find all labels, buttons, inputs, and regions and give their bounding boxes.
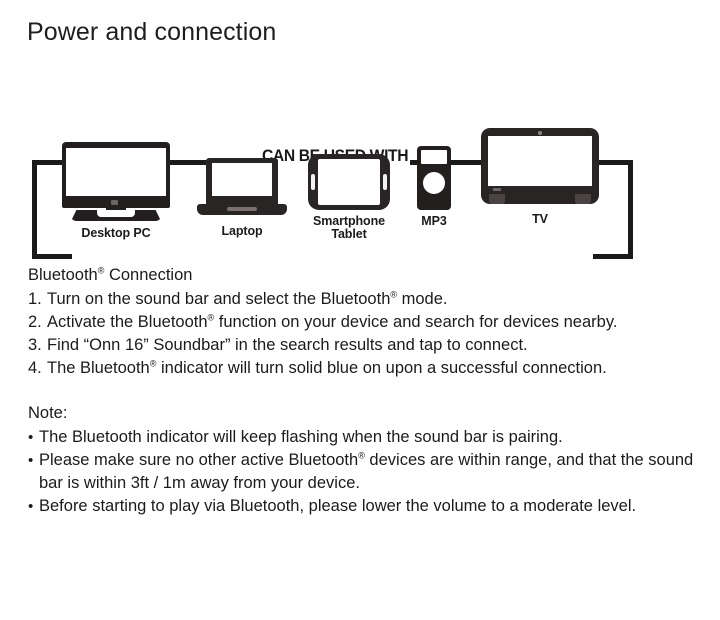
note-text-pre: Please make sure no other active Bluetoo… (39, 451, 358, 469)
note-bullet-2: • Please make sure no other active Bluet… (28, 449, 700, 495)
bluetooth-connection-heading: Bluetooth® Connection (28, 264, 700, 287)
device-desktop-pc: Desktop PC (56, 142, 176, 240)
note-heading: Note: (28, 402, 700, 425)
note-text-pre: The Bluetooth indicator will keep flashi… (39, 428, 563, 446)
bullet-glyph: • (28, 495, 39, 518)
bluetooth-heading-suffix: Connection (104, 266, 192, 284)
tablet-left-button (311, 174, 315, 190)
can-be-used-with-diagram: CAN BE USED WITH Desktop PC Laptop (0, 70, 720, 250)
mp3-click-wheel (423, 172, 445, 194)
note-text: The Bluetooth indicator will keep flashi… (39, 426, 700, 449)
manual-page: { "page": { "title": "Power and connecti… (0, 0, 720, 620)
step-text-post: function on your device and search for d… (214, 313, 617, 331)
note-bullet-3: • Before starting to play via Bluetooth,… (28, 495, 700, 518)
mp3-player-icon (417, 146, 451, 210)
step-number: 1. (28, 288, 47, 311)
device-label-tablet: Tablet (303, 228, 395, 241)
bluetooth-steps-list: 1. Turn on the sound bar and select the … (28, 288, 700, 380)
tv-icon (481, 128, 599, 208)
device-laptop: Laptop (196, 158, 288, 238)
laptop-icon (197, 158, 287, 220)
device-label-mp3: MP3 (408, 215, 460, 228)
tv-left-foot (489, 194, 505, 204)
laptop-trackpad (227, 207, 257, 211)
step-text-post: indicator will turn solid blue on upon a… (156, 359, 606, 377)
tablet-screen (318, 159, 380, 205)
step-text: Turn on the sound bar and select the Blu… (47, 288, 700, 311)
step-text-pre: Turn on the sound bar and select the Blu… (47, 290, 390, 308)
step-text: The Bluetooth® indicator will turn solid… (47, 357, 700, 380)
device-label-tv: TV (480, 213, 600, 226)
bluetooth-step-2: 2. Activate the Bluetooth® function on y… (28, 311, 700, 334)
note-bullet-1: • The Bluetooth indicator will keep flas… (28, 426, 700, 449)
step-text-pre: Find “Onn 16” Soundbar” in the search re… (47, 336, 528, 354)
note-text: Please make sure no other active Bluetoo… (39, 449, 700, 495)
step-text-post: mode. (397, 290, 447, 308)
bluetooth-step-1: 1. Turn on the sound bar and select the … (28, 288, 700, 311)
tablet-right-button (383, 174, 387, 190)
bluetooth-heading-text: Bluetooth (28, 266, 98, 284)
step-number: 2. (28, 311, 47, 334)
desktop-stand-notch (97, 210, 135, 217)
bracket-left-vertical (32, 160, 37, 259)
tv-camera-dot (538, 131, 542, 135)
device-label-laptop: Laptop (196, 225, 288, 238)
device-tv: TV (480, 128, 600, 226)
desktop-pc-icon (57, 142, 175, 222)
note-section: Note: • The Bluetooth indicator will kee… (28, 402, 700, 518)
device-label-desktop-pc: Desktop PC (56, 227, 176, 240)
note-bullet-list: • The Bluetooth indicator will keep flas… (28, 426, 700, 518)
laptop-screen (212, 163, 272, 196)
note-text: Before starting to play via Bluetooth, p… (39, 495, 700, 518)
tv-screen (488, 136, 592, 186)
bracket-left-foot (32, 254, 72, 259)
tv-indicator (493, 188, 501, 191)
tv-right-foot (575, 194, 591, 204)
step-number: 4. (28, 357, 47, 380)
instructions-content: Bluetooth® Connection 1. Turn on the sou… (28, 264, 700, 518)
desktop-logo-badge (111, 200, 118, 205)
step-text-pre: The Bluetooth (47, 359, 150, 377)
step-text: Activate the Bluetooth® function on your… (47, 311, 700, 334)
device-mp3: MP3 (408, 146, 460, 228)
bracket-right-foot (593, 254, 633, 259)
mp3-screen (421, 150, 447, 164)
step-text-pre: Activate the Bluetooth (47, 313, 208, 331)
device-smartphone-tablet: Smartphone Tablet (303, 154, 395, 241)
page-title: Power and connection (27, 18, 276, 47)
step-text: Find “Onn 16” Soundbar” in the search re… (47, 334, 700, 357)
smartphone-tablet-icon (308, 154, 390, 210)
bullet-glyph: • (28, 449, 39, 472)
step-number: 3. (28, 334, 47, 357)
bullet-glyph: • (28, 426, 39, 449)
note-text-pre: Before starting to play via Bluetooth, p… (39, 497, 636, 515)
bracket-right-vertical (628, 160, 633, 259)
desktop-screen (66, 148, 166, 196)
bluetooth-step-3: 3. Find “Onn 16” Soundbar” in the search… (28, 334, 700, 357)
registered-mark: ® (358, 451, 365, 461)
bluetooth-step-4: 4. The Bluetooth® indicator will turn so… (28, 357, 700, 380)
